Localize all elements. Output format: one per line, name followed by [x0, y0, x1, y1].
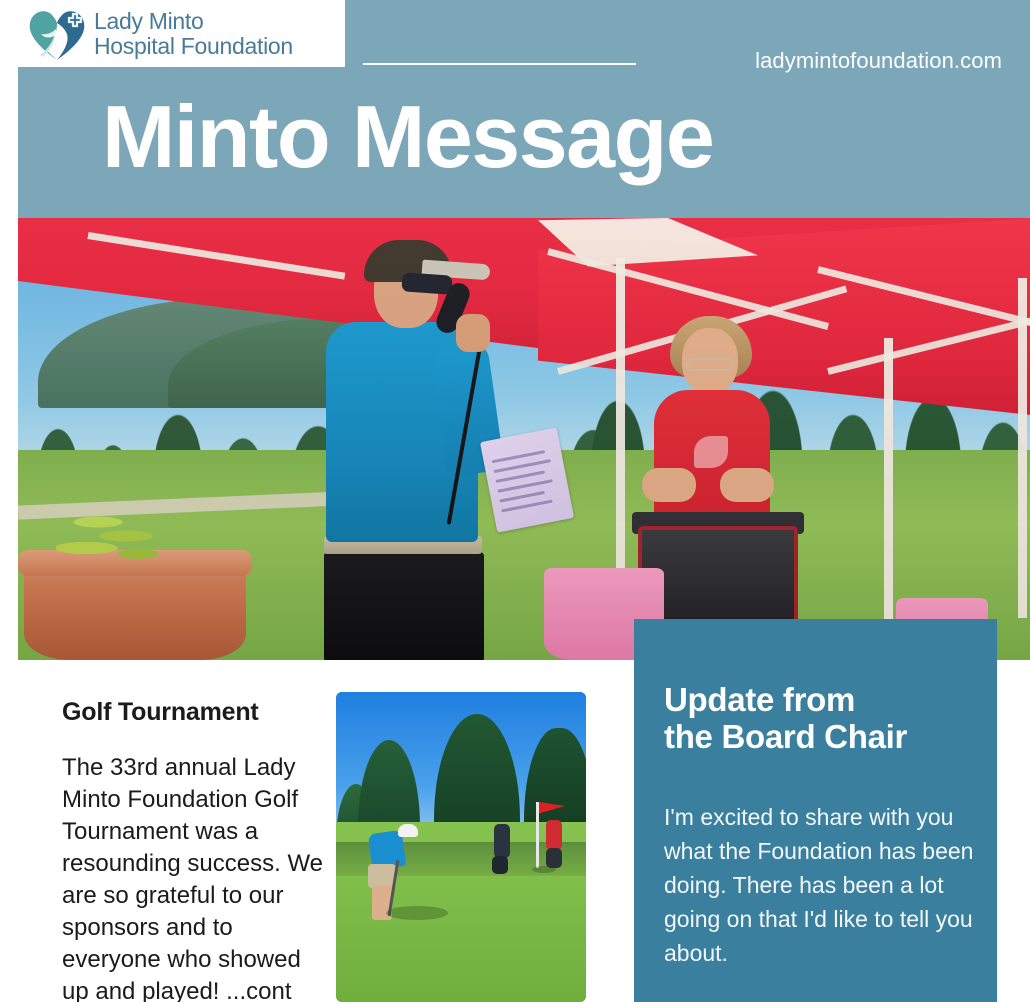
board-paragraph: I'm excited to share with you what the F… [664, 800, 982, 970]
golf-golfer-shadow [386, 906, 448, 920]
hero-man-sunglasses-icon [401, 272, 452, 294]
golf-spectator-legs [492, 856, 508, 874]
newsletter-page: Lady Minto Hospital Foundation ladyminto… [0, 0, 1030, 1002]
hero-palm-plant [56, 500, 176, 564]
hero-woman-arm [720, 468, 774, 502]
hero-canopy-pole [1018, 278, 1027, 618]
board-title-line-1: Update from [664, 681, 855, 718]
board-paragraph: We are thrilled to announce [664, 996, 982, 1002]
golf-flag-pole [536, 802, 539, 868]
organization-logo: Lady Minto Hospital Foundation [18, 0, 345, 67]
golf-spectator [494, 824, 510, 858]
hero-canopy-pole [616, 258, 625, 588]
hero-woman-glasses-icon [686, 358, 734, 371]
golf-golfer-cap [398, 824, 418, 837]
header-divider-rule [363, 63, 636, 65]
hero-woman-shirt-graphic [694, 436, 728, 468]
hero-photo [18, 218, 1030, 660]
hero-canopy-pole [884, 338, 893, 638]
page-title: Minto Message [102, 82, 713, 192]
header-band: Lady Minto Hospital Foundation ladyminto… [18, 0, 1030, 218]
website-url[interactable]: ladymintofoundation.com [755, 48, 1002, 74]
hero-man-trousers [324, 552, 484, 660]
hero-woman-arm [642, 468, 696, 502]
logo-line-2: Hospital Foundation [94, 34, 293, 59]
golf-tournament-heading: Golf Tournament [62, 698, 259, 727]
board-chair-title: Update from the Board Chair [664, 681, 907, 755]
golf-tournament-body: The 33rd annual Lady Minto Foundation Go… [62, 752, 334, 1002]
golf-spectator [546, 820, 562, 850]
golf-shadow [532, 866, 556, 873]
board-title-line-2: the Board Chair [664, 718, 907, 755]
logo-line-1: Lady Minto [94, 8, 204, 34]
hero-man-hand [456, 314, 490, 352]
golf-tournament-photo [336, 692, 586, 1002]
heart-medical-cross-logo-icon [26, 5, 88, 63]
board-chair-body: I'm excited to share with you what the F… [664, 800, 982, 1002]
logo-wordmark: Lady Minto Hospital Foundation [94, 9, 293, 59]
golf-spectator-legs [546, 848, 562, 868]
board-chair-panel: Update from the Board Chair I'm excited … [634, 619, 997, 1002]
